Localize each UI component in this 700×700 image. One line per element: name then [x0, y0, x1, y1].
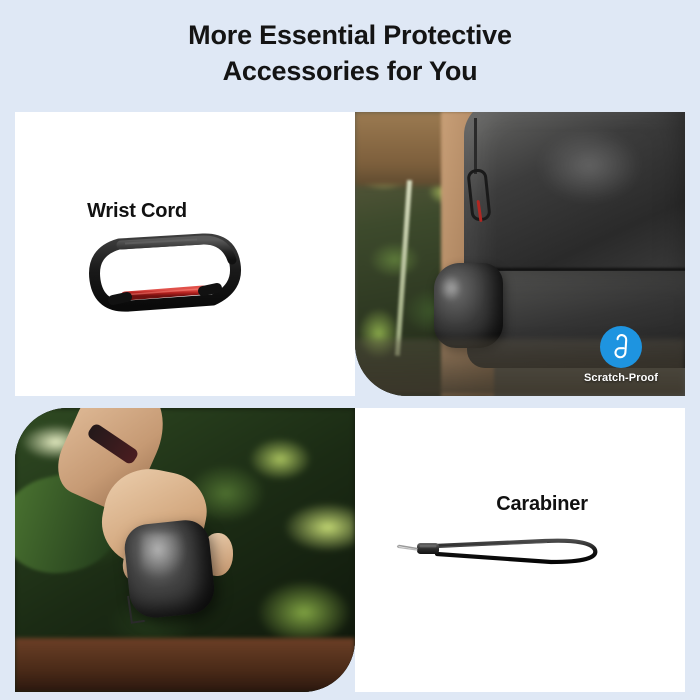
planter-pot: [15, 638, 355, 692]
accessories-panel-grid: Wrist Cord: [15, 112, 685, 677]
scratch-proof-badge: Scratch-Proof: [573, 326, 669, 384]
case-highlight: [439, 274, 462, 302]
panel-row-bottom: Carabiner: [15, 408, 685, 692]
carabiner-illustration-icon: [85, 230, 245, 322]
panel-row-top: Wrist Cord: [15, 112, 685, 396]
backpack-highlight: [537, 129, 643, 203]
panel-carabiner: Carabiner: [355, 408, 685, 692]
scratch-proof-label: Scratch-Proof: [573, 372, 669, 384]
strap-cord: [474, 118, 477, 175]
carabiner-label: Carabiner: [377, 493, 685, 516]
wrist-cord-illustration-icon: [395, 526, 645, 576]
carabiner-hook-icon: [600, 326, 642, 368]
hand-scene-image: [15, 408, 355, 692]
page-title-line-2: Accessories for You: [0, 54, 700, 90]
panel-hand-photo: [15, 408, 355, 692]
page-title: More Essential Protective Accessories fo…: [0, 18, 700, 89]
case-highlight: [141, 533, 185, 578]
panel-wrist-cord: Wrist Cord: [15, 112, 355, 396]
panel-bag-photo: Scratch-Proof: [355, 112, 685, 396]
wrist-cord-label: Wrist Cord: [15, 200, 307, 223]
page-title-line-1: More Essential Protective: [0, 18, 700, 54]
